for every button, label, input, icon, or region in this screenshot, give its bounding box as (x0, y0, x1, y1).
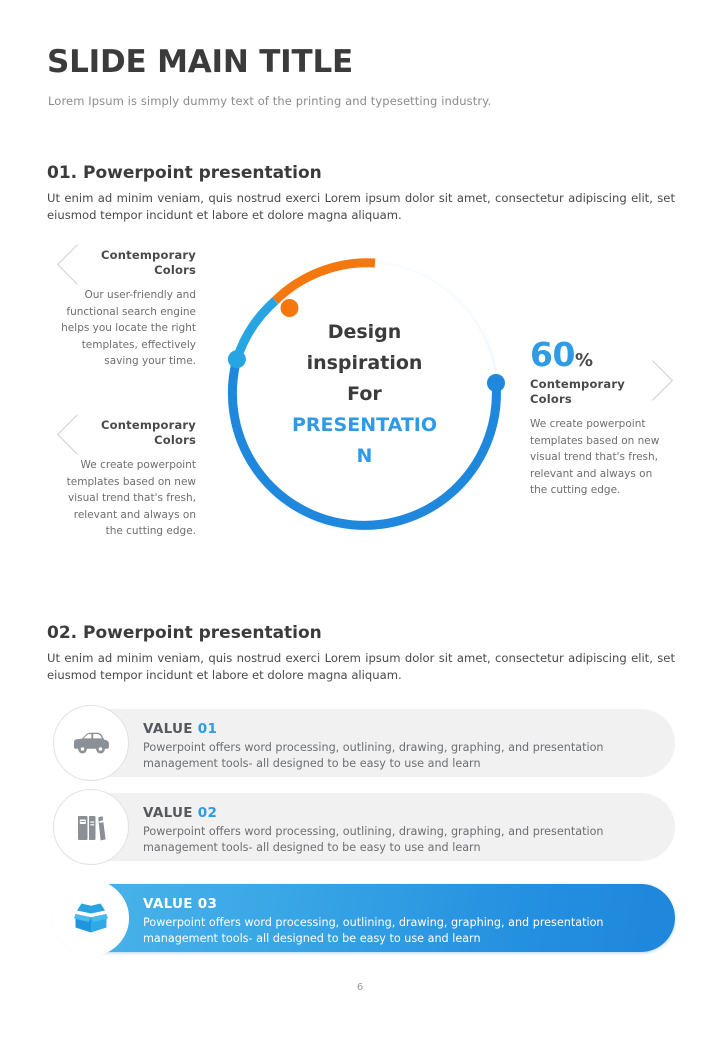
percent-sign: % (575, 350, 593, 371)
section-body-01: Ut enim ad minim veniam, quis nostrud ex… (47, 190, 675, 224)
callout-title-line1: Contemporary (101, 418, 196, 432)
value-row-title: VALUE 01 (143, 721, 645, 737)
callout-title-line2: Colors (154, 263, 196, 277)
ring-text-line4: PRESENTATION (285, 410, 445, 472)
value-row-label: VALUE (143, 896, 193, 912)
callout-bottom-left: Contemporary Colors We create powerpoint… (58, 418, 196, 540)
page-number: 6 (0, 982, 720, 993)
callout-right-desc: We create powerpoint templates based on … (530, 416, 670, 499)
callout-top-left: Contemporary Colors Our user-friendly an… (58, 248, 196, 370)
ring-text-line3: For (347, 379, 382, 410)
value-row-text: VALUE 03 Powerpoint offers word processi… (143, 896, 645, 947)
value-row[interactable]: VALUE 02 Powerpoint offers word processi… (55, 793, 675, 861)
ring-text-line1: Design (328, 317, 402, 348)
section-heading-01: 01. Powerpoint presentation (47, 163, 322, 183)
callout-bottom-left-desc: We create powerpoint templates based on … (58, 457, 196, 540)
callout-right: 60% Contemporary Colors We create powerp… (530, 338, 670, 499)
books-icon (74, 810, 108, 844)
value-icon-container (53, 705, 129, 781)
callout-top-left-desc: Our user-friendly and functional search … (58, 287, 196, 370)
value-row-desc: Powerpoint offers word processing, outli… (143, 824, 645, 856)
ring-center-text: Design inspiration For PRESENTATION (216, 246, 513, 543)
ring-text-line2: inspiration (307, 348, 423, 379)
callout-title-line2: Colors (154, 433, 196, 447)
value-row-title: VALUE 03 (143, 896, 645, 912)
value-row-title: VALUE 02 (143, 805, 645, 821)
value-row-number: 02 (198, 805, 217, 821)
donut-ring-diagram: Design inspiration For PRESENTATION (216, 246, 513, 543)
value-row-text: VALUE 01 Powerpoint offers word processi… (143, 721, 645, 772)
value-icon-container (53, 789, 129, 865)
callout-title-line1: Contemporary (101, 248, 196, 262)
section-body-02: Ut enim ad minim veniam, quis nostrud ex… (47, 650, 675, 684)
value-row-label: VALUE (143, 721, 193, 737)
value-row-number: 03 (198, 896, 217, 912)
callout-title-line2: Colors (530, 392, 572, 406)
section-heading-02: 02. Powerpoint presentation (47, 623, 322, 643)
value-row-number: 01 (198, 721, 217, 737)
value-row[interactable]: VALUE 01 Powerpoint offers word processi… (55, 709, 675, 777)
value-row-desc: Powerpoint offers word processing, outli… (143, 915, 645, 947)
open-box-icon (70, 899, 112, 937)
value-icon-container (53, 880, 129, 956)
value-row-label: VALUE (143, 805, 193, 821)
page-title: SLIDE MAIN TITLE (47, 44, 353, 80)
car-icon (71, 729, 111, 757)
page-subtitle: Lorem Ipsum is simply dummy text of the … (48, 94, 491, 108)
percent-value: 60 (530, 335, 575, 374)
value-row-text: VALUE 02 Powerpoint offers word processi… (143, 805, 645, 856)
value-row[interactable]: VALUE 03 Powerpoint offers word processi… (55, 884, 675, 952)
callout-title-line1: Contemporary (530, 377, 625, 391)
value-row-desc: Powerpoint offers word processing, outli… (143, 740, 645, 772)
